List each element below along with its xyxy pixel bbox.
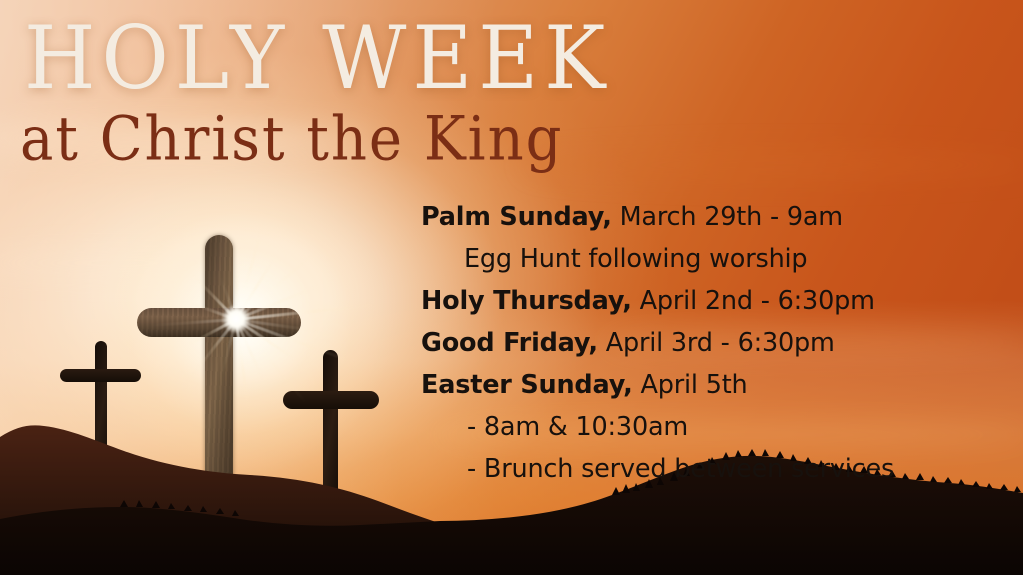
schedule-event-name: Good Friday, <box>421 328 598 358</box>
page-title: HOLY WEEK <box>24 16 611 103</box>
schedule-line: Holy Thursday, April 2nd - 6:30pm <box>421 280 1001 322</box>
schedule-event-detail: March 29th - 9am <box>612 202 843 232</box>
schedule-event-name: Palm Sunday, <box>421 202 612 232</box>
schedule-event-name: Holy Thursday, <box>421 286 632 316</box>
schedule-line: Palm Sunday, March 29th - 9am <box>421 196 1001 238</box>
holy-week-poster: HOLY WEEK at Christ the King Palm Sunday… <box>0 0 1023 575</box>
schedule-line: Egg Hunt following worship <box>421 238 1001 280</box>
schedule-event-name: Easter Sunday, <box>421 370 633 400</box>
left-cross-beam <box>60 369 141 382</box>
schedule-event-detail: - Brunch served between services <box>467 454 894 484</box>
page-subtitle: at Christ the King <box>20 110 564 170</box>
schedule-event-detail: April 2nd - 6:30pm <box>632 286 875 316</box>
schedule-line: Good Friday, April 3rd - 6:30pm <box>421 322 1001 364</box>
service-schedule-list: Palm Sunday, March 29th - 9amEgg Hunt fo… <box>421 196 1001 490</box>
schedule-event-detail: April 3rd - 6:30pm <box>598 328 835 358</box>
cloud-streak <box>520 150 1023 180</box>
schedule-line: Easter Sunday, April 5th <box>421 364 1001 406</box>
schedule-event-detail: Egg Hunt following worship <box>464 244 807 274</box>
sun-core-icon <box>222 305 250 333</box>
schedule-line: - Brunch served between services <box>421 448 1001 490</box>
schedule-line: - 8am & 10:30am <box>421 406 1001 448</box>
schedule-event-detail: - 8am & 10:30am <box>467 412 688 442</box>
schedule-event-detail: April 5th <box>633 370 748 400</box>
